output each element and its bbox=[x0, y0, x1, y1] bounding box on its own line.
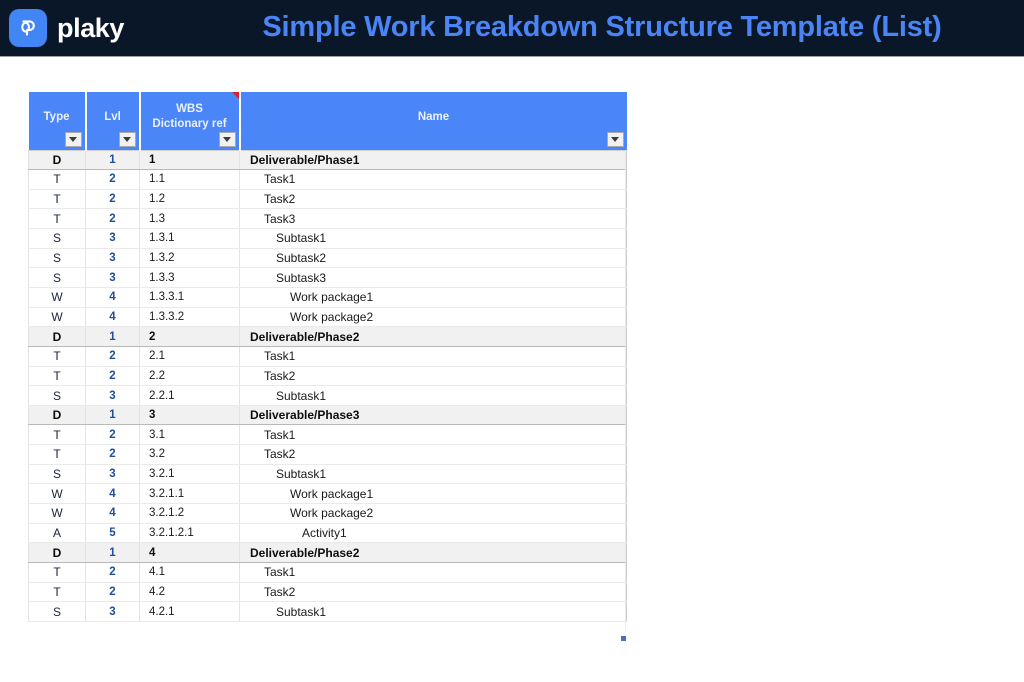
cell-lvl[interactable]: 2 bbox=[86, 189, 140, 209]
cell-lvl[interactable]: 4 bbox=[86, 504, 140, 524]
cell-name[interactable]: Subtask1 bbox=[240, 602, 627, 622]
cell-type[interactable]: T bbox=[29, 445, 86, 465]
cell-wbs-ref[interactable]: 1.2 bbox=[140, 189, 240, 209]
table-row[interactable]: D14Deliverable/Phase2 bbox=[29, 543, 627, 563]
chevron-down-icon bbox=[69, 137, 77, 142]
cell-lvl[interactable]: 4 bbox=[86, 287, 140, 307]
cell-wbs-ref[interactable]: 2.2.1 bbox=[140, 386, 240, 406]
cell-lvl[interactable]: 3 bbox=[86, 464, 140, 484]
table-row[interactable]: S34.2.1Subtask1 bbox=[29, 602, 627, 622]
cell-lvl[interactable]: 1 bbox=[86, 405, 140, 425]
cell-lvl[interactable]: 4 bbox=[86, 484, 140, 504]
cell-type[interactable]: T bbox=[29, 562, 86, 582]
cell-type[interactable]: T bbox=[29, 189, 86, 209]
brand-name: plaky bbox=[57, 15, 124, 42]
table-row[interactable]: T21.3Task3 bbox=[29, 209, 627, 229]
cell-lvl[interactable]: 4 bbox=[86, 307, 140, 327]
table-row[interactable]: W41.3.3.2Work package2 bbox=[29, 307, 627, 327]
cell-type[interactable]: D bbox=[29, 543, 86, 563]
filter-dropdown-name[interactable] bbox=[607, 132, 624, 147]
app-header: plaky Simple Work Breakdown Structure Te… bbox=[0, 0, 1024, 57]
cell-wbs-ref[interactable]: 1.3.1 bbox=[140, 229, 240, 249]
cell-type[interactable]: W bbox=[29, 484, 86, 504]
comment-flag-icon bbox=[232, 92, 239, 99]
cell-wbs-ref[interactable]: 3.2.1.2.1 bbox=[140, 523, 240, 543]
cell-wbs-ref[interactable]: 4.2.1 bbox=[140, 602, 240, 622]
column-header-type[interactable]: Type bbox=[29, 92, 86, 150]
column-header-name-label: Name bbox=[243, 110, 625, 124]
page-title: Simple Work Breakdown Structure Template… bbox=[0, 0, 1024, 54]
cell-type[interactable]: S bbox=[29, 464, 86, 484]
cell-lvl[interactable]: 2 bbox=[86, 582, 140, 602]
cell-lvl[interactable]: 1 bbox=[86, 543, 140, 563]
cell-name[interactable]: Deliverable/Phase2 bbox=[240, 543, 627, 563]
column-header-name[interactable]: Name bbox=[240, 92, 627, 150]
cell-type[interactable]: S bbox=[29, 248, 86, 268]
cell-type[interactable]: T bbox=[29, 170, 86, 190]
cell-wbs-ref[interactable]: 3 bbox=[140, 405, 240, 425]
cell-type[interactable]: T bbox=[29, 346, 86, 366]
cell-type[interactable]: S bbox=[29, 386, 86, 406]
table-row[interactable]: W43.2.1.1Work package1 bbox=[29, 484, 627, 504]
cell-type[interactable]: D bbox=[29, 405, 86, 425]
brand: plaky bbox=[9, 9, 124, 47]
cell-lvl[interactable]: 3 bbox=[86, 386, 140, 406]
cell-name[interactable]: Work package1 bbox=[240, 484, 627, 504]
filter-dropdown-wbs[interactable] bbox=[219, 132, 236, 147]
table-row[interactable]: S31.3.2Subtask2 bbox=[29, 248, 627, 268]
cell-lvl[interactable]: 2 bbox=[86, 562, 140, 582]
plaky-logo-icon bbox=[9, 9, 47, 47]
wbs-table-wrapper: Type Lvl WBS Dictionary bbox=[28, 92, 626, 622]
table-row[interactable]: T21.2Task2 bbox=[29, 189, 627, 209]
table-row[interactable]: S31.3.1Subtask1 bbox=[29, 229, 627, 249]
table-row[interactable]: T24.2Task2 bbox=[29, 582, 627, 602]
cell-type[interactable]: S bbox=[29, 229, 86, 249]
cell-wbs-ref[interactable]: 1.1 bbox=[140, 170, 240, 190]
column-header-wbs-label-line2: Dictionary ref bbox=[143, 117, 237, 131]
table-row[interactable]: S32.2.1Subtask1 bbox=[29, 386, 627, 406]
cell-wbs-ref[interactable]: 2 bbox=[140, 327, 240, 347]
column-header-wbs-dictionary-ref[interactable]: WBS Dictionary ref bbox=[140, 92, 240, 150]
cell-name[interactable]: Subtask3 bbox=[240, 268, 627, 288]
cell-wbs-ref[interactable]: 1.3.3.2 bbox=[140, 307, 240, 327]
cell-name[interactable]: Deliverable/Phase3 bbox=[240, 405, 627, 425]
table-header-row: Type Lvl WBS Dictionary bbox=[29, 92, 627, 150]
cell-lvl[interactable]: 2 bbox=[86, 445, 140, 465]
cell-type[interactable]: T bbox=[29, 209, 86, 229]
cell-name[interactable]: Subtask1 bbox=[240, 229, 627, 249]
cell-lvl[interactable]: 2 bbox=[86, 366, 140, 386]
cell-wbs-ref[interactable]: 3.1 bbox=[140, 425, 240, 445]
cell-name[interactable]: Task2 bbox=[240, 582, 627, 602]
column-header-lvl-label: Lvl bbox=[89, 110, 137, 124]
table-body: D11Deliverable/Phase1T21.1Task1T21.2Task… bbox=[29, 150, 627, 621]
table-row[interactable]: T21.1Task1 bbox=[29, 170, 627, 190]
cell-lvl[interactable]: 3 bbox=[86, 268, 140, 288]
cell-wbs-ref[interactable]: 4.2 bbox=[140, 582, 240, 602]
cell-name[interactable]: Deliverable/Phase2 bbox=[240, 327, 627, 347]
table-row[interactable]: D11Deliverable/Phase1 bbox=[29, 150, 627, 170]
cell-name[interactable]: Task2 bbox=[240, 189, 627, 209]
page-title-text: Simple Work Breakdown Structure Template… bbox=[82, 11, 941, 44]
cell-type[interactable]: D bbox=[29, 327, 86, 347]
cell-lvl[interactable]: 3 bbox=[86, 229, 140, 249]
table-row[interactable]: W43.2.1.2Work package2 bbox=[29, 504, 627, 524]
cell-name[interactable]: Activity1 bbox=[240, 523, 627, 543]
column-header-wbs-label-line1: WBS bbox=[143, 102, 237, 116]
table-row[interactable]: T22.2Task2 bbox=[29, 366, 627, 386]
range-right-edge bbox=[625, 150, 626, 630]
cell-type[interactable]: W bbox=[29, 504, 86, 524]
column-header-lvl[interactable]: Lvl bbox=[86, 92, 140, 150]
table-row[interactable]: A53.2.1.2.1Activity1 bbox=[29, 523, 627, 543]
cell-type[interactable]: W bbox=[29, 307, 86, 327]
cell-name[interactable]: Subtask2 bbox=[240, 248, 627, 268]
cell-lvl[interactable]: 3 bbox=[86, 248, 140, 268]
cell-wbs-ref[interactable]: 3.2.1.1 bbox=[140, 484, 240, 504]
table-row[interactable]: T22.1Task1 bbox=[29, 346, 627, 366]
cell-lvl[interactable]: 5 bbox=[86, 523, 140, 543]
chevron-down-icon bbox=[123, 137, 131, 142]
cell-wbs-ref[interactable]: 3.2.1 bbox=[140, 464, 240, 484]
table-row[interactable]: W41.3.3.1Work package1 bbox=[29, 287, 627, 307]
cell-wbs-ref[interactable]: 3.2 bbox=[140, 445, 240, 465]
table-row[interactable]: T23.1Task1 bbox=[29, 425, 627, 445]
cell-type[interactable]: T bbox=[29, 425, 86, 445]
cell-name[interactable]: Task1 bbox=[240, 346, 627, 366]
cell-wbs-ref[interactable]: 1.3.3.1 bbox=[140, 287, 240, 307]
wbs-table: Type Lvl WBS Dictionary bbox=[28, 92, 627, 622]
spreadsheet-canvas: Type Lvl WBS Dictionary bbox=[0, 57, 1024, 682]
table-row[interactable]: T24.1Task1 bbox=[29, 562, 627, 582]
cell-name[interactable]: Task1 bbox=[240, 425, 627, 445]
chevron-down-icon bbox=[611, 137, 619, 142]
cell-type[interactable]: W bbox=[29, 287, 86, 307]
cell-wbs-ref[interactable]: 2.2 bbox=[140, 366, 240, 386]
cell-type[interactable]: D bbox=[29, 150, 86, 170]
filter-dropdown-lvl[interactable] bbox=[119, 132, 136, 147]
cell-name[interactable]: Work package2 bbox=[240, 307, 627, 327]
table-row[interactable]: T23.2Task2 bbox=[29, 445, 627, 465]
cell-type[interactable]: A bbox=[29, 523, 86, 543]
cell-name[interactable]: Deliverable/Phase1 bbox=[240, 150, 627, 170]
cell-lvl[interactable]: 2 bbox=[86, 170, 140, 190]
cell-lvl[interactable]: 2 bbox=[86, 346, 140, 366]
cell-lvl[interactable]: 1 bbox=[86, 150, 140, 170]
cell-wbs-ref[interactable]: 1.3.3 bbox=[140, 268, 240, 288]
column-header-type-label: Type bbox=[31, 110, 83, 124]
table-header: Type Lvl WBS Dictionary bbox=[29, 92, 627, 150]
cell-lvl[interactable]: 3 bbox=[86, 602, 140, 622]
cell-wbs-ref[interactable]: 1.3 bbox=[140, 209, 240, 229]
table-row[interactable]: S33.2.1Subtask1 bbox=[29, 464, 627, 484]
cell-type[interactable]: T bbox=[29, 366, 86, 386]
table-row[interactable]: S31.3.3Subtask3 bbox=[29, 268, 627, 288]
cell-wbs-ref[interactable]: 2.1 bbox=[140, 346, 240, 366]
cell-name[interactable]: Subtask1 bbox=[240, 464, 627, 484]
cell-wbs-ref[interactable]: 4 bbox=[140, 543, 240, 563]
cell-lvl[interactable]: 1 bbox=[86, 327, 140, 347]
cell-wbs-ref[interactable]: 1 bbox=[140, 150, 240, 170]
cell-name[interactable]: Task1 bbox=[240, 562, 627, 582]
filter-dropdown-type[interactable] bbox=[65, 132, 82, 147]
cell-type[interactable]: T bbox=[29, 582, 86, 602]
cell-name[interactable]: Task2 bbox=[240, 445, 627, 465]
table-row[interactable]: D13Deliverable/Phase3 bbox=[29, 405, 627, 425]
cell-name[interactable]: Work package2 bbox=[240, 504, 627, 524]
cell-wbs-ref[interactable]: 1.3.2 bbox=[140, 248, 240, 268]
cell-lvl[interactable]: 2 bbox=[86, 209, 140, 229]
cell-type[interactable]: S bbox=[29, 602, 86, 622]
cell-wbs-ref[interactable]: 3.2.1.2 bbox=[140, 504, 240, 524]
range-fill-handle[interactable] bbox=[620, 635, 627, 642]
cell-name[interactable]: Subtask1 bbox=[240, 386, 627, 406]
cell-name[interactable]: Work package1 bbox=[240, 287, 627, 307]
cell-name[interactable]: Task3 bbox=[240, 209, 627, 229]
cell-type[interactable]: S bbox=[29, 268, 86, 288]
cell-wbs-ref[interactable]: 4.1 bbox=[140, 562, 240, 582]
table-row[interactable]: D12Deliverable/Phase2 bbox=[29, 327, 627, 347]
cell-name[interactable]: Task1 bbox=[240, 170, 627, 190]
cell-name[interactable]: Task2 bbox=[240, 366, 627, 386]
chevron-down-icon bbox=[223, 137, 231, 142]
cell-lvl[interactable]: 2 bbox=[86, 425, 140, 445]
